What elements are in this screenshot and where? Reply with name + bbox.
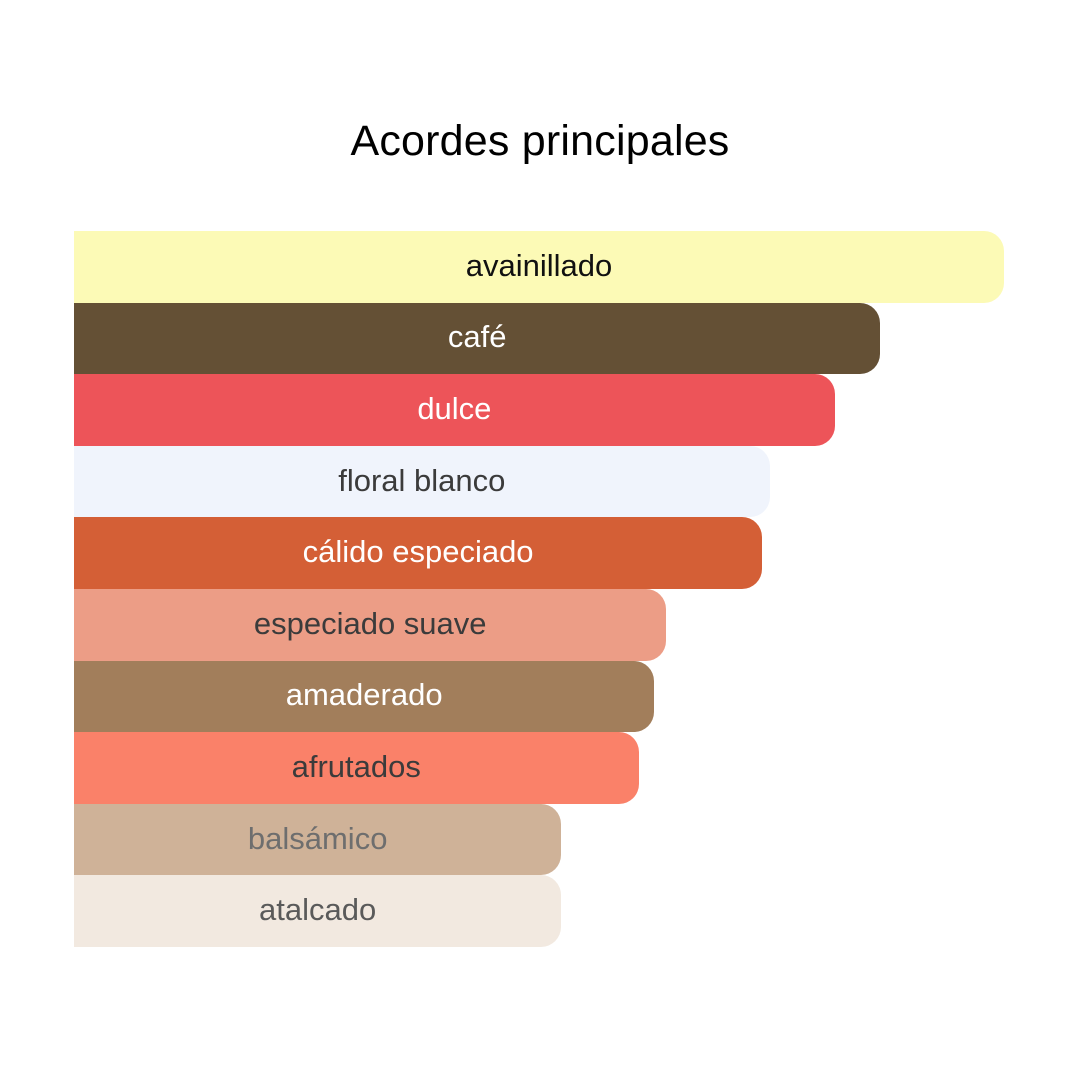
bar-fill[interactable] [74,804,561,876]
bar-row[interactable]: atalcado [74,875,1004,947]
bar-fill[interactable] [74,446,770,518]
bar-row[interactable]: café [74,303,1004,375]
bar-chart-plot-area: avainilladocafédulcefloral blancocálido … [74,231,1004,948]
bar-row[interactable]: balsámico [74,804,1004,876]
bar-fill[interactable] [74,589,666,661]
bar-row[interactable]: avainillado [74,231,1004,303]
chart-title: Acordes principales [0,118,1080,165]
bar-fill[interactable] [74,374,835,446]
bar-fill[interactable] [74,517,762,589]
bar-fill[interactable] [74,732,639,804]
bar-fill[interactable] [74,661,654,733]
bar-row[interactable]: floral blanco [74,446,1004,518]
bar-row[interactable]: amaderado [74,661,1004,733]
bar-row[interactable]: especiado suave [74,589,1004,661]
bar-row[interactable]: dulce [74,374,1004,446]
bar-fill[interactable] [74,875,561,947]
chart-container: Acordes principales avainilladocafédulce… [0,0,1080,1080]
bar-row[interactable]: afrutados [74,732,1004,804]
bar-fill[interactable] [74,303,880,375]
bar-row[interactable]: cálido especiado [74,517,1004,589]
bar-fill[interactable] [74,231,1004,303]
